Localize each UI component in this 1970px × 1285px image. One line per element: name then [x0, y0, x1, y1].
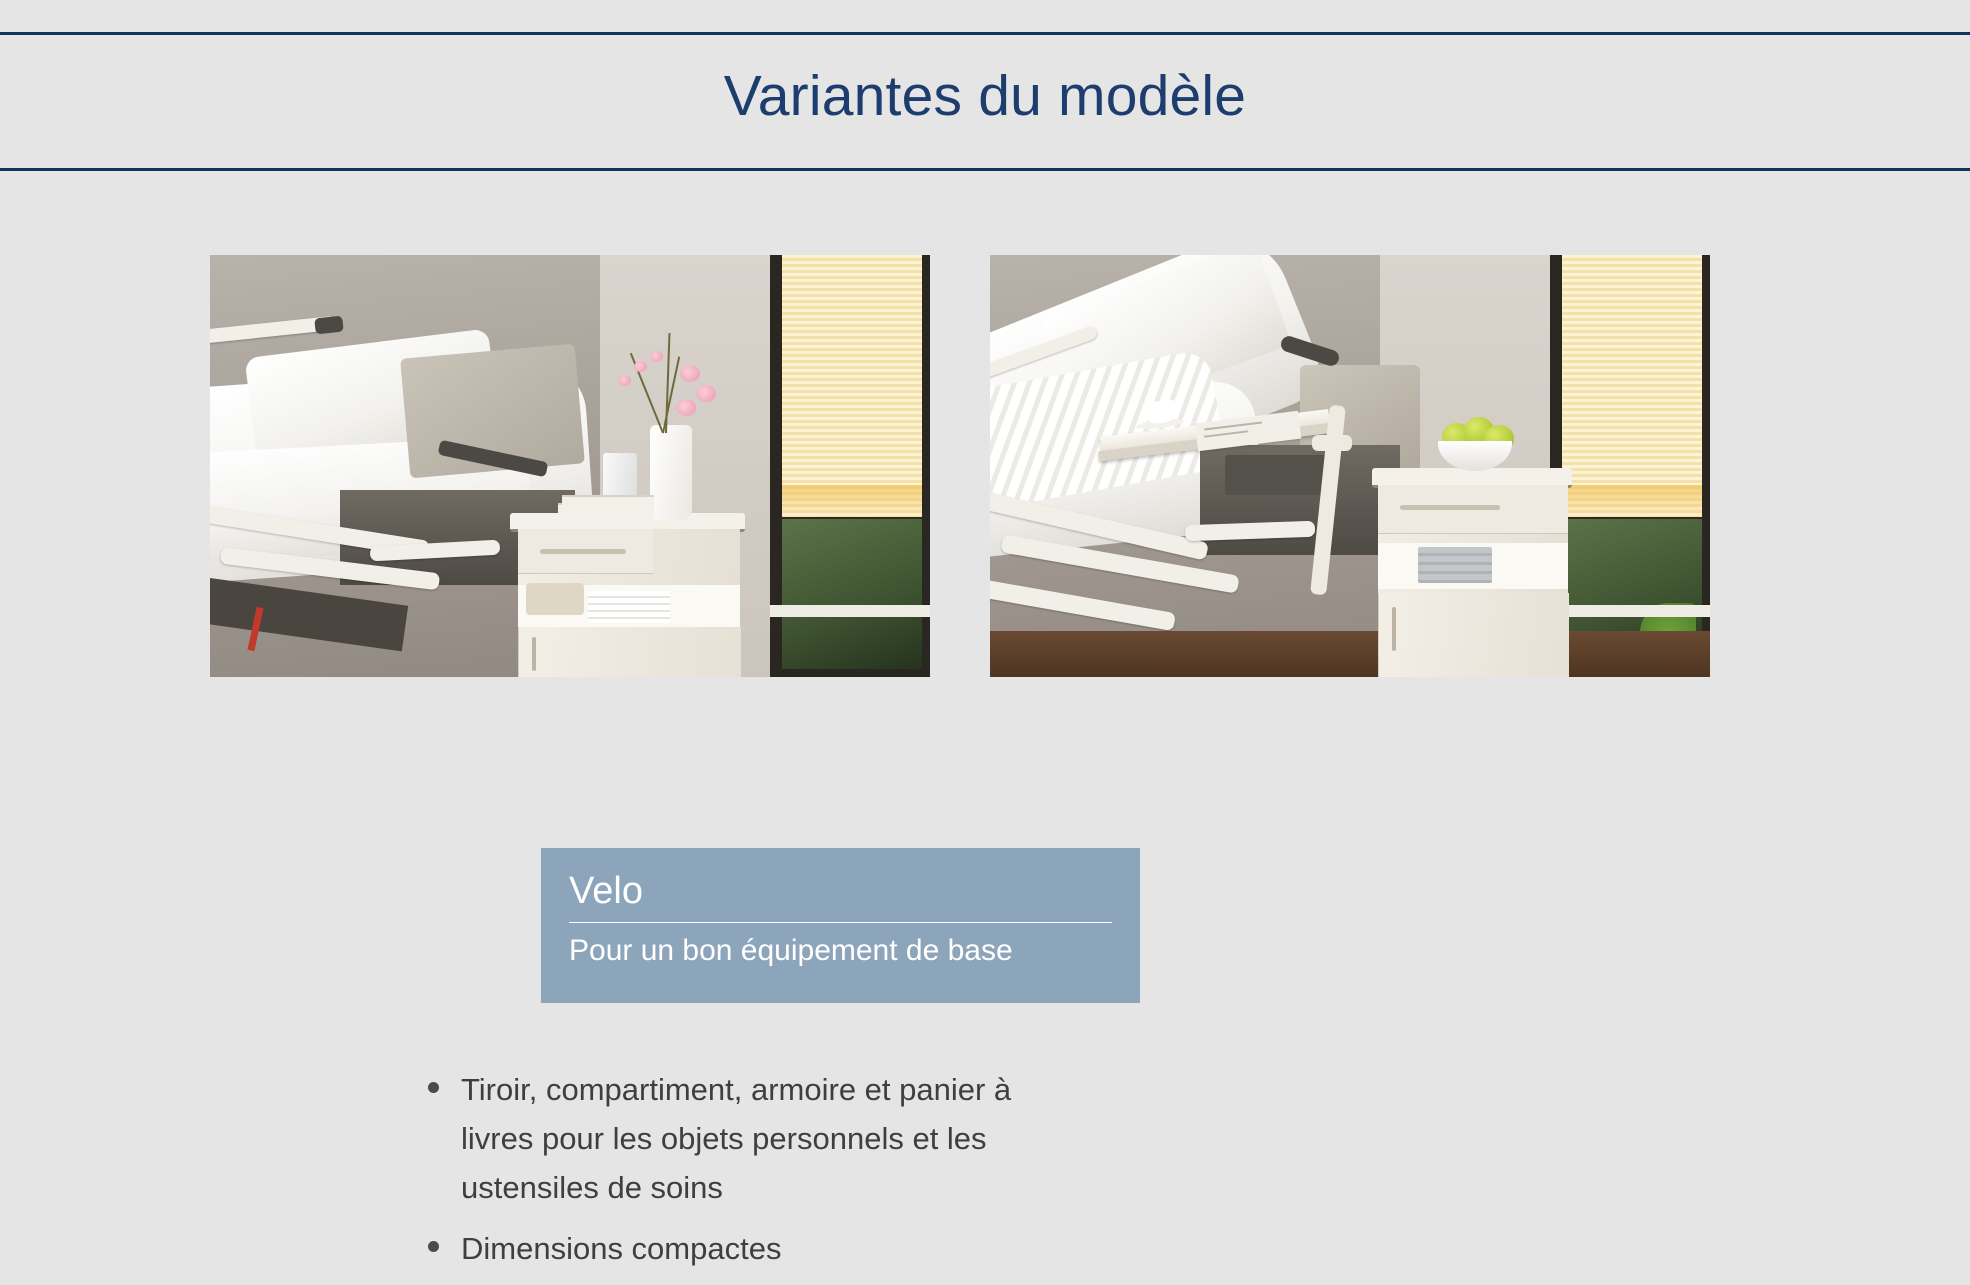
nightstand-door-handle — [1392, 607, 1396, 651]
window-blind — [782, 255, 922, 517]
variant-card-velo[interactable]: Velo Pour un bon équipement de base Tiro… — [210, 255, 930, 677]
slide-variantes-du-modele: Variantes du modèle — [0, 0, 1970, 1146]
window-blind — [1562, 255, 1702, 517]
caption-divider — [569, 922, 1112, 923]
window-glass — [782, 519, 922, 669]
orchid-bloom-2 — [696, 385, 716, 402]
list-item: Dimensions compactes — [420, 1224, 1080, 1273]
nightstand-door-handle — [532, 637, 536, 671]
variants-grid: Velo Pour un bon équipement de base Tiro… — [0, 0, 1970, 1146]
book-stack-2 — [562, 495, 654, 507]
window-blind-shadow — [782, 485, 922, 519]
flower-vase — [650, 425, 692, 521]
variant-photo-velo-avec-tablette-de-lit — [990, 255, 1710, 677]
overbed-table-joint — [1312, 435, 1352, 451]
orchid-bloom-5 — [618, 375, 631, 386]
nightstand-door — [1378, 593, 1569, 677]
nightstand-door — [518, 627, 741, 677]
nightstand-towels — [1418, 547, 1492, 583]
bullet-dot-icon — [428, 1082, 439, 1093]
variant-subtitle: Pour un bon équipement de base — [569, 932, 1112, 970]
variant-title: Velo — [569, 868, 1112, 914]
bullet-dot-icon — [428, 1241, 439, 1252]
variant-bullets-velo: Tiroir, compartiment, armoire et panier … — [420, 1065, 1080, 1285]
photo-illustration-velo — [210, 255, 930, 677]
nightstand-towels — [588, 591, 670, 623]
variant-caption-velo: Velo Pour un bon équipement de base — [541, 848, 1140, 1003]
orchid-bloom-1 — [680, 365, 700, 382]
orchid-bloom-4 — [634, 361, 647, 372]
bullet-text: Dimensions compactes — [461, 1224, 781, 1273]
bullet-text: Tiroir, compartiment, armoire et panier … — [461, 1065, 1080, 1212]
variant-card-velo-avec-tablette-de-lit[interactable]: Velo avec tablette de lit Pour plus de f… — [990, 255, 1710, 677]
list-item: Tiroir, compartiment, armoire et panier … — [420, 1065, 1080, 1212]
variant-photo-velo — [210, 255, 930, 677]
window-blind-shadow — [1562, 485, 1702, 519]
window-sill — [770, 605, 930, 617]
window-sill — [1550, 605, 1710, 617]
room-floor — [990, 631, 1710, 677]
photo-illustration-velo-tablette — [990, 255, 1710, 677]
bed-motor-box — [1225, 455, 1335, 495]
orchid-bloom-6 — [650, 351, 663, 362]
bed-rail-cap — [314, 316, 344, 335]
orchid-bloom-3 — [676, 399, 696, 416]
nightstand-drawer-handle — [1400, 505, 1500, 510]
nightstand-drawer-handle — [540, 549, 626, 554]
nightstand-basin — [526, 583, 584, 615]
